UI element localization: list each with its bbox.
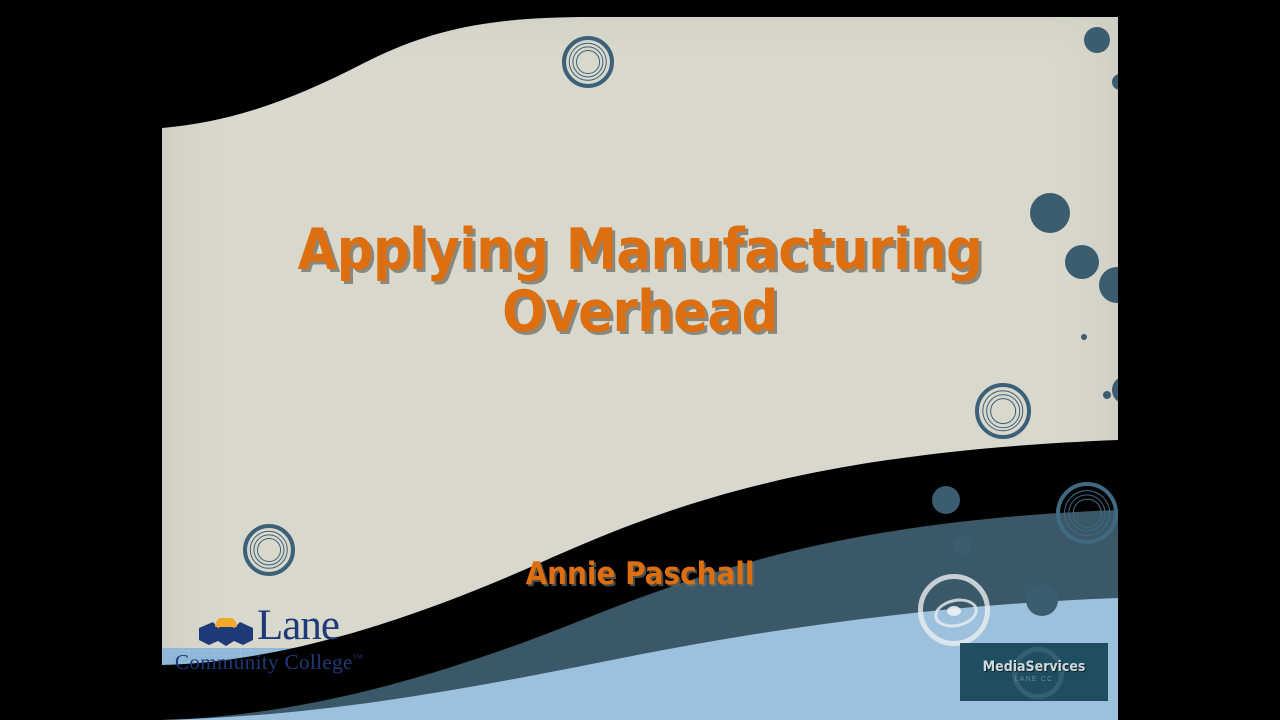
decor-ring xyxy=(562,36,614,88)
decor-dot xyxy=(1084,27,1110,53)
lane-logo-wordmark: Lane xyxy=(257,604,339,647)
letterbox-bar-left xyxy=(0,0,162,720)
slide-title-line-1: Applying Manufacturing xyxy=(162,220,1118,282)
decor-dot xyxy=(932,486,960,514)
lane-logo-subtitle-text: Community College xyxy=(175,650,353,674)
lane-book-sun-icon xyxy=(197,618,255,648)
decor-ring xyxy=(1056,482,1118,544)
letterbox-bar-right xyxy=(1118,0,1280,720)
media-services-watermark: MediaServices LANE CC xyxy=(960,643,1108,701)
lane-community-college-logo: Lane Community College™ xyxy=(175,608,405,680)
media-services-sublabel: LANE CC xyxy=(960,676,1108,683)
presentation-slide: Applying Manufacturing Overhead Annie Pa… xyxy=(162,0,1118,720)
video-frame: Applying Manufacturing Overhead Annie Pa… xyxy=(0,0,1280,720)
slide-title: Applying Manufacturing Overhead xyxy=(162,220,1118,343)
slide-title-line-2: Overhead xyxy=(162,282,1118,344)
trademark-symbol: ™ xyxy=(353,653,363,664)
lane-logo-subtitle: Community College™ xyxy=(175,650,363,675)
decor-dot xyxy=(1103,391,1111,399)
decor-ring xyxy=(975,383,1031,439)
presenter-name: Annie Paschall xyxy=(162,556,1118,592)
decor-dot xyxy=(953,536,971,554)
media-services-label: MediaServices xyxy=(960,659,1108,675)
